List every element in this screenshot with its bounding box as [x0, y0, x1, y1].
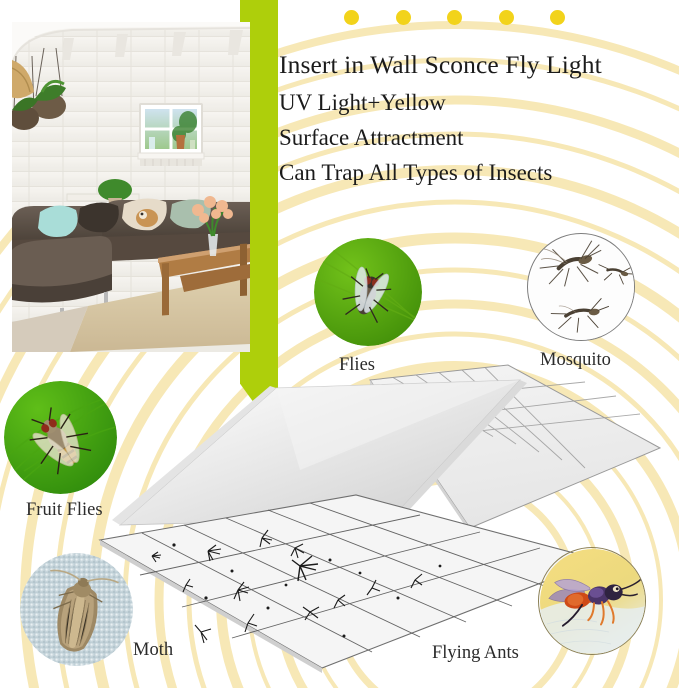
trapped-insect-specks [172, 543, 441, 637]
yellow-dot [447, 10, 462, 25]
bubble-label-flies: Flies [339, 355, 375, 376]
bubble-label-mosquito: Mosquito [540, 350, 611, 371]
peeling-protective-film [112, 380, 527, 525]
insect-bubble-flies: Flies [314, 238, 444, 378]
headline-feature-2: Surface Attractment [279, 125, 464, 151]
bubble-label-flying-ants: Flying Ants [432, 643, 519, 664]
bubble-label-fruit-flies: Fruit Flies [26, 500, 103, 521]
glue-board-top-sheet [370, 365, 660, 533]
bubble-label-moth: Moth [133, 640, 173, 661]
flies-photo [314, 238, 422, 346]
headline-feature-1: UV Light+Yellow [279, 90, 446, 116]
yellow-dot [550, 10, 565, 25]
yellow-dot-row [344, 10, 574, 30]
insect-bubble-mosquito: Mosquito [527, 233, 677, 378]
insect-bubble-moth: Moth [20, 553, 200, 683]
yellow-dot [499, 10, 514, 25]
product-infographic: Insert in Wall Sconce Fly Light UV Light… [0, 0, 679, 688]
flying-ants-photo [538, 547, 646, 655]
yellow-dot [396, 10, 411, 25]
room-photo [12, 22, 250, 352]
fruit-flies-photo [4, 381, 117, 494]
headline-feature-3: Can Trap All Types of Insects [279, 160, 552, 186]
yellow-dot [344, 10, 359, 25]
moth-photo [20, 553, 133, 666]
headline-primary: Insert in Wall Sconce Fly Light [279, 50, 602, 80]
insect-bubble-flying-ants: Flying Ants [538, 547, 678, 677]
mosquito-photo [527, 233, 635, 341]
insect-bubble-fruit-flies: Fruit Flies [4, 381, 144, 526]
